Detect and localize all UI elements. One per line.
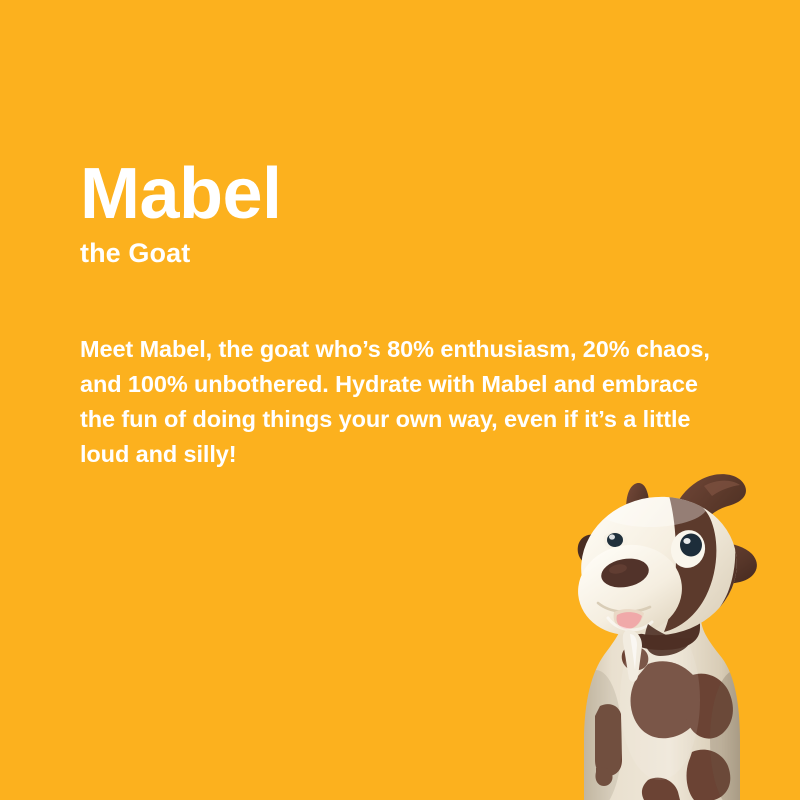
goat-muzzle <box>574 540 687 640</box>
beard <box>623 630 642 682</box>
goat-ears <box>578 534 757 583</box>
mouth-line <box>598 603 650 612</box>
page-subtitle: the Goat <box>80 238 740 269</box>
hero-text-block: Mabel the Goat <box>80 160 740 269</box>
page-title: Mabel <box>80 160 740 228</box>
tongue <box>616 612 642 629</box>
mouth <box>614 609 644 630</box>
ear-left <box>578 534 612 568</box>
nose <box>599 555 651 591</box>
body-spots <box>570 566 762 800</box>
goat-neck <box>624 600 700 650</box>
body-paragraph: Meet Mabel, the goat who’s 80% enthusias… <box>80 332 732 472</box>
goat-head <box>570 480 760 682</box>
poster-canvas: Mabel the Goat Meet Mabel, the goat who’… <box>0 0 800 800</box>
goat-horns <box>626 474 746 560</box>
eye-left <box>604 532 628 551</box>
horn-right <box>668 474 746 560</box>
goat-body <box>570 566 762 800</box>
horn-left <box>626 483 649 543</box>
ear-right <box>700 543 757 583</box>
eye-right <box>667 527 708 571</box>
